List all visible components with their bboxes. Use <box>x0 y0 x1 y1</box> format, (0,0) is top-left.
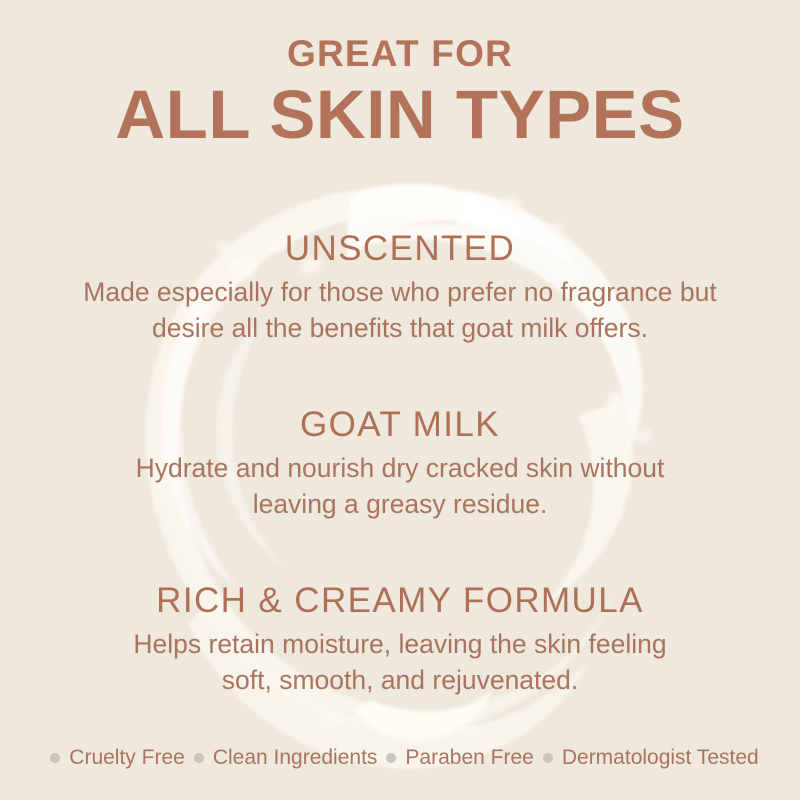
page-title: ALL SKIN TYPES <box>0 78 800 152</box>
benefit-title: GOAT MILK <box>0 404 800 446</box>
benefit-title: UNSCENTED <box>0 228 800 270</box>
benefit-description-line: leaving a greasy residue. <box>62 486 738 522</box>
benefit-description-line: Made especially for those who prefer no … <box>62 274 738 310</box>
infographic-canvas: GREAT FOR ALL SKIN TYPES UNSCENTED Made … <box>0 0 800 800</box>
bullet-dot-icon <box>386 753 396 763</box>
claim-paraben-free: Paraben Free <box>405 744 533 772</box>
benefit-description: Hydrate and nourish dry cracked skin wit… <box>0 450 800 522</box>
benefit-item-goat-milk: GOAT MILK Hydrate and nourish dry cracke… <box>0 404 800 522</box>
header: GREAT FOR ALL SKIN TYPES <box>0 32 800 152</box>
header-eyebrow: GREAT FOR <box>0 32 800 76</box>
benefit-description-line: Helps retain moisture, leaving the skin … <box>62 626 738 662</box>
benefit-description-line: soft, smooth, and rejuvenated. <box>62 662 738 698</box>
bullet-dot-icon <box>194 753 204 763</box>
benefit-list: UNSCENTED Made especially for those who … <box>0 228 800 698</box>
benefit-description: Made especially for those who prefer no … <box>0 274 800 346</box>
benefit-description-line: Hydrate and nourish dry cracked skin wit… <box>62 450 738 486</box>
claim-cruelty-free: Cruelty Free <box>69 744 185 772</box>
benefit-description-line: desire all the benefits that goat milk o… <box>62 310 738 346</box>
claim-clean-ingredients: Clean Ingredients <box>213 744 378 772</box>
bullet-dot-icon <box>543 753 553 763</box>
benefit-title: RICH & CREAMY FORMULA <box>0 580 800 622</box>
benefit-item-unscented: UNSCENTED Made especially for those who … <box>0 228 800 346</box>
bullet-dot-icon <box>50 753 60 763</box>
benefit-description: Helps retain moisture, leaving the skin … <box>0 626 800 698</box>
claims-bar: Cruelty Free Clean Ingredients Paraben F… <box>0 744 800 772</box>
benefit-item-rich-creamy-formula: RICH & CREAMY FORMULA Helps retain moist… <box>0 580 800 698</box>
claim-dermatologist-tested: Dermatologist Tested <box>562 744 759 772</box>
